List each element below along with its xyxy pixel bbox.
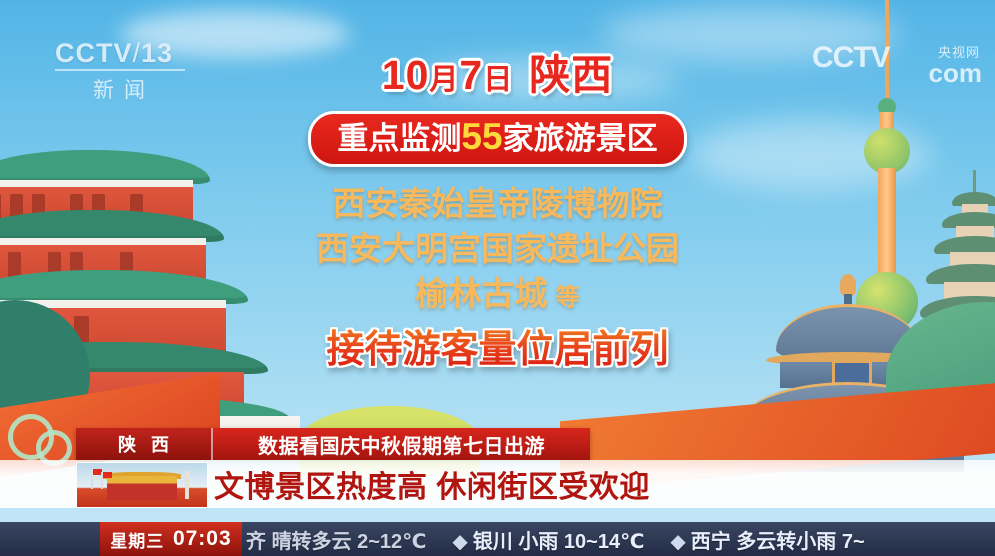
bullet-icon: ◆	[452, 531, 467, 553]
scenic-spot-item: 西安大明宫国家遗址公园	[0, 226, 995, 271]
scenic-spot-item-last: 榆林古城等	[0, 271, 995, 320]
weather-item: 齐 晴转多云 2~12℃	[246, 525, 426, 554]
headline: 文博景区热度高 休闲街区受欢迎	[214, 461, 650, 507]
date-day-label: 日	[483, 64, 513, 96]
weather-city: 齐	[246, 531, 266, 553]
thumbnail-pillar	[185, 471, 189, 499]
weather-item: ◆银川 小雨 10~14℃	[452, 525, 644, 554]
weather-condition: 多云转小雨	[736, 531, 836, 553]
etcetera-label: 等	[556, 284, 580, 311]
scenic-spot-item: 西安秦始皇帝陵博物院	[0, 181, 995, 226]
weather-items: 齐 晴转多云 2~12℃ ◆银川 小雨 10~14℃ ◆西宁 多云转小雨 7~	[242, 522, 995, 556]
ticker-left-spacer	[0, 522, 100, 556]
weather-item: ◆西宁 多云转小雨 7~	[670, 525, 864, 554]
date-time-block: 星期三 07:03	[100, 522, 242, 556]
province-name: 陕西	[529, 52, 613, 98]
date-day-number: 7	[459, 52, 483, 98]
bullet-icon: ◆	[670, 531, 685, 553]
thumbnail-gate	[107, 476, 177, 500]
info-graphic-block: 10月7日陕西 重点监测55家旅游景区 西安秦始皇帝陵博物院 西安大明宫国家遗址…	[0, 52, 995, 374]
thumbnail-flag	[101, 472, 103, 489]
weather-temperature: 2~12℃	[357, 531, 426, 553]
topic-label: 数据看国庆中秋假期第七日出游	[258, 430, 545, 459]
badge-prefix: 重点监测	[337, 121, 461, 156]
conclusion-line: 接待游客量位居前列	[0, 326, 995, 374]
headline-text: 文博景区热度高 休闲街区受欢迎	[214, 462, 650, 506]
weather-condition: 晴转多云	[272, 531, 352, 553]
weather-city: 银川	[473, 531, 513, 553]
badge-number: 55	[461, 116, 502, 157]
clock-time: 07:03	[173, 527, 232, 551]
topic-label-cell: 数据看国庆中秋假期第七日出游	[213, 428, 590, 460]
scenic-spot-label: 榆林古城	[416, 275, 548, 312]
weather-condition: 小雨	[518, 531, 558, 553]
badge-suffix: 家旅游景区	[503, 121, 658, 156]
weather-temperature: 7~	[842, 531, 865, 553]
location-label: 陕 西	[113, 431, 174, 457]
location-label-cell: 陕 西	[76, 428, 213, 460]
weather-temperature: 10~14℃	[564, 531, 644, 553]
date-province-line: 10月7日陕西	[0, 52, 995, 103]
weekday-label: 星期三	[110, 527, 164, 552]
weather-city: 西宁	[691, 531, 731, 553]
monitored-sites-text: 重点监测55家旅游景区	[337, 121, 657, 156]
tiananmen-thumbnail	[76, 462, 208, 508]
lower-third: 陕 西 数据看国庆中秋假期第七日出游 文博景区热度高 休闲街区受欢迎	[0, 428, 995, 522]
topic-bar: 陕 西 数据看国庆中秋假期第七日出游	[76, 428, 590, 460]
monitored-sites-badge: 重点监测55家旅游景区	[308, 111, 686, 167]
date-month-number: 10	[382, 52, 430, 98]
weather-ticker: 星期三 07:03 齐 晴转多云 2~12℃ ◆银川 小雨 10~14℃ ◆西宁…	[0, 522, 995, 556]
thumbnail-flag	[91, 469, 93, 489]
date-month-label: 月	[429, 64, 459, 96]
broadcast-screen: CCTV/13 新闻 CCTV 央视网 com 10月7日陕西 重点监测55家旅…	[0, 0, 995, 556]
